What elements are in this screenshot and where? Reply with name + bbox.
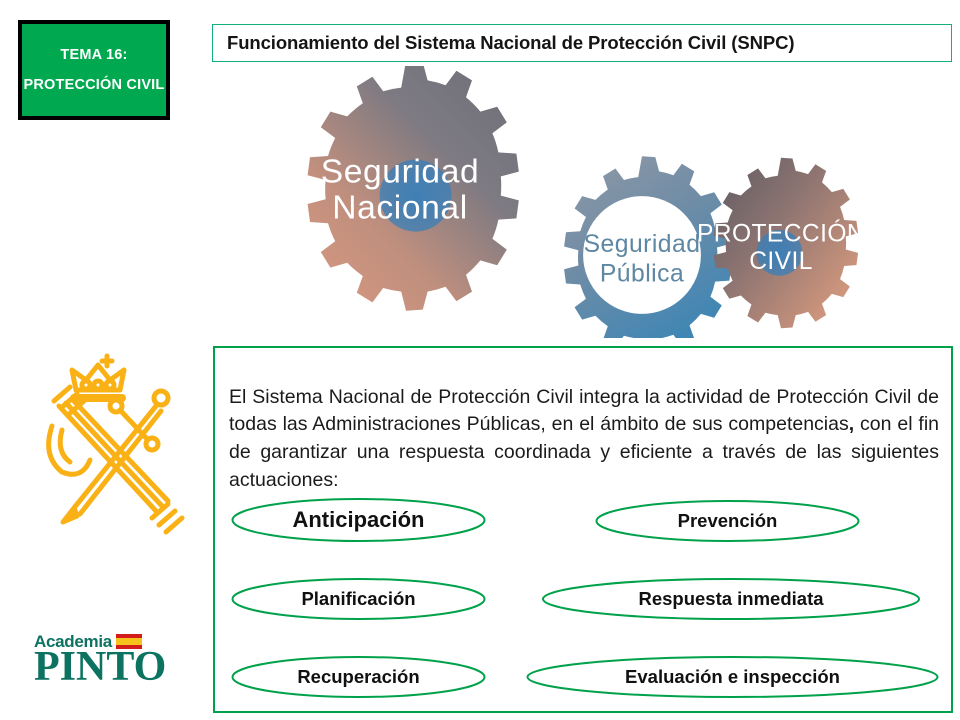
action-label: Prevención (678, 510, 778, 532)
action-item-recuperacion[interactable]: Recuperación (231, 656, 486, 698)
academia-pinto-logo: Academia PINTO (34, 628, 194, 694)
svg-text:Pública: Pública (600, 261, 684, 288)
action-item-evaluacion-inspeccion[interactable]: Evaluación e inspección (525, 656, 940, 698)
guardia-civil-emblem (28, 348, 188, 553)
action-item-prevencion[interactable]: Prevención (595, 500, 860, 542)
intro-paragraph: El Sistema Nacional de Protección Civil … (229, 384, 939, 495)
intro-paragraph-part1: El Sistema Nacional de Protección Civil … (229, 386, 939, 436)
svg-text:Nacional: Nacional (332, 189, 468, 226)
gears-diagram: Seguridad Nacional Seguridad Pública PRO… (250, 66, 875, 338)
page-title-box: Funcionamiento del Sistema Nacional de P… (212, 24, 952, 62)
topic-badge: TEMA 16: PROTECCIÓN CIVIL (18, 20, 170, 120)
action-item-planificacion[interactable]: Planificación (231, 578, 486, 620)
action-label: Anticipación (292, 507, 424, 533)
topic-badge-number: TEMA 16: (60, 47, 127, 63)
svg-text:Seguridad: Seguridad (321, 153, 480, 190)
action-label: Recuperación (297, 666, 419, 688)
gear-proteccion-civil: PROTECCIÓN CIVIL (697, 158, 865, 329)
svg-text:PROTECCIÓN: PROTECCIÓN (697, 220, 865, 247)
action-label: Respuesta inmediata (638, 588, 823, 610)
page-title: Funcionamiento del Sistema Nacional de P… (227, 32, 794, 54)
logo-pinto-text: PINTO (34, 648, 194, 688)
action-item-anticipacion[interactable]: Anticipación (231, 498, 486, 542)
svg-text:Seguridad: Seguridad (584, 231, 701, 258)
gear-seguridad-nacional: Seguridad Nacional (308, 66, 519, 311)
action-label: Evaluación e inspección (625, 666, 840, 688)
topic-badge-title: PROTECCIÓN CIVIL (24, 77, 165, 93)
action-label: Planificación (301, 588, 415, 610)
svg-text:CIVIL: CIVIL (749, 248, 813, 275)
action-item-respuesta-inmediata[interactable]: Respuesta inmediata (541, 578, 921, 620)
content-panel: El Sistema Nacional de Protección Civil … (213, 346, 953, 713)
